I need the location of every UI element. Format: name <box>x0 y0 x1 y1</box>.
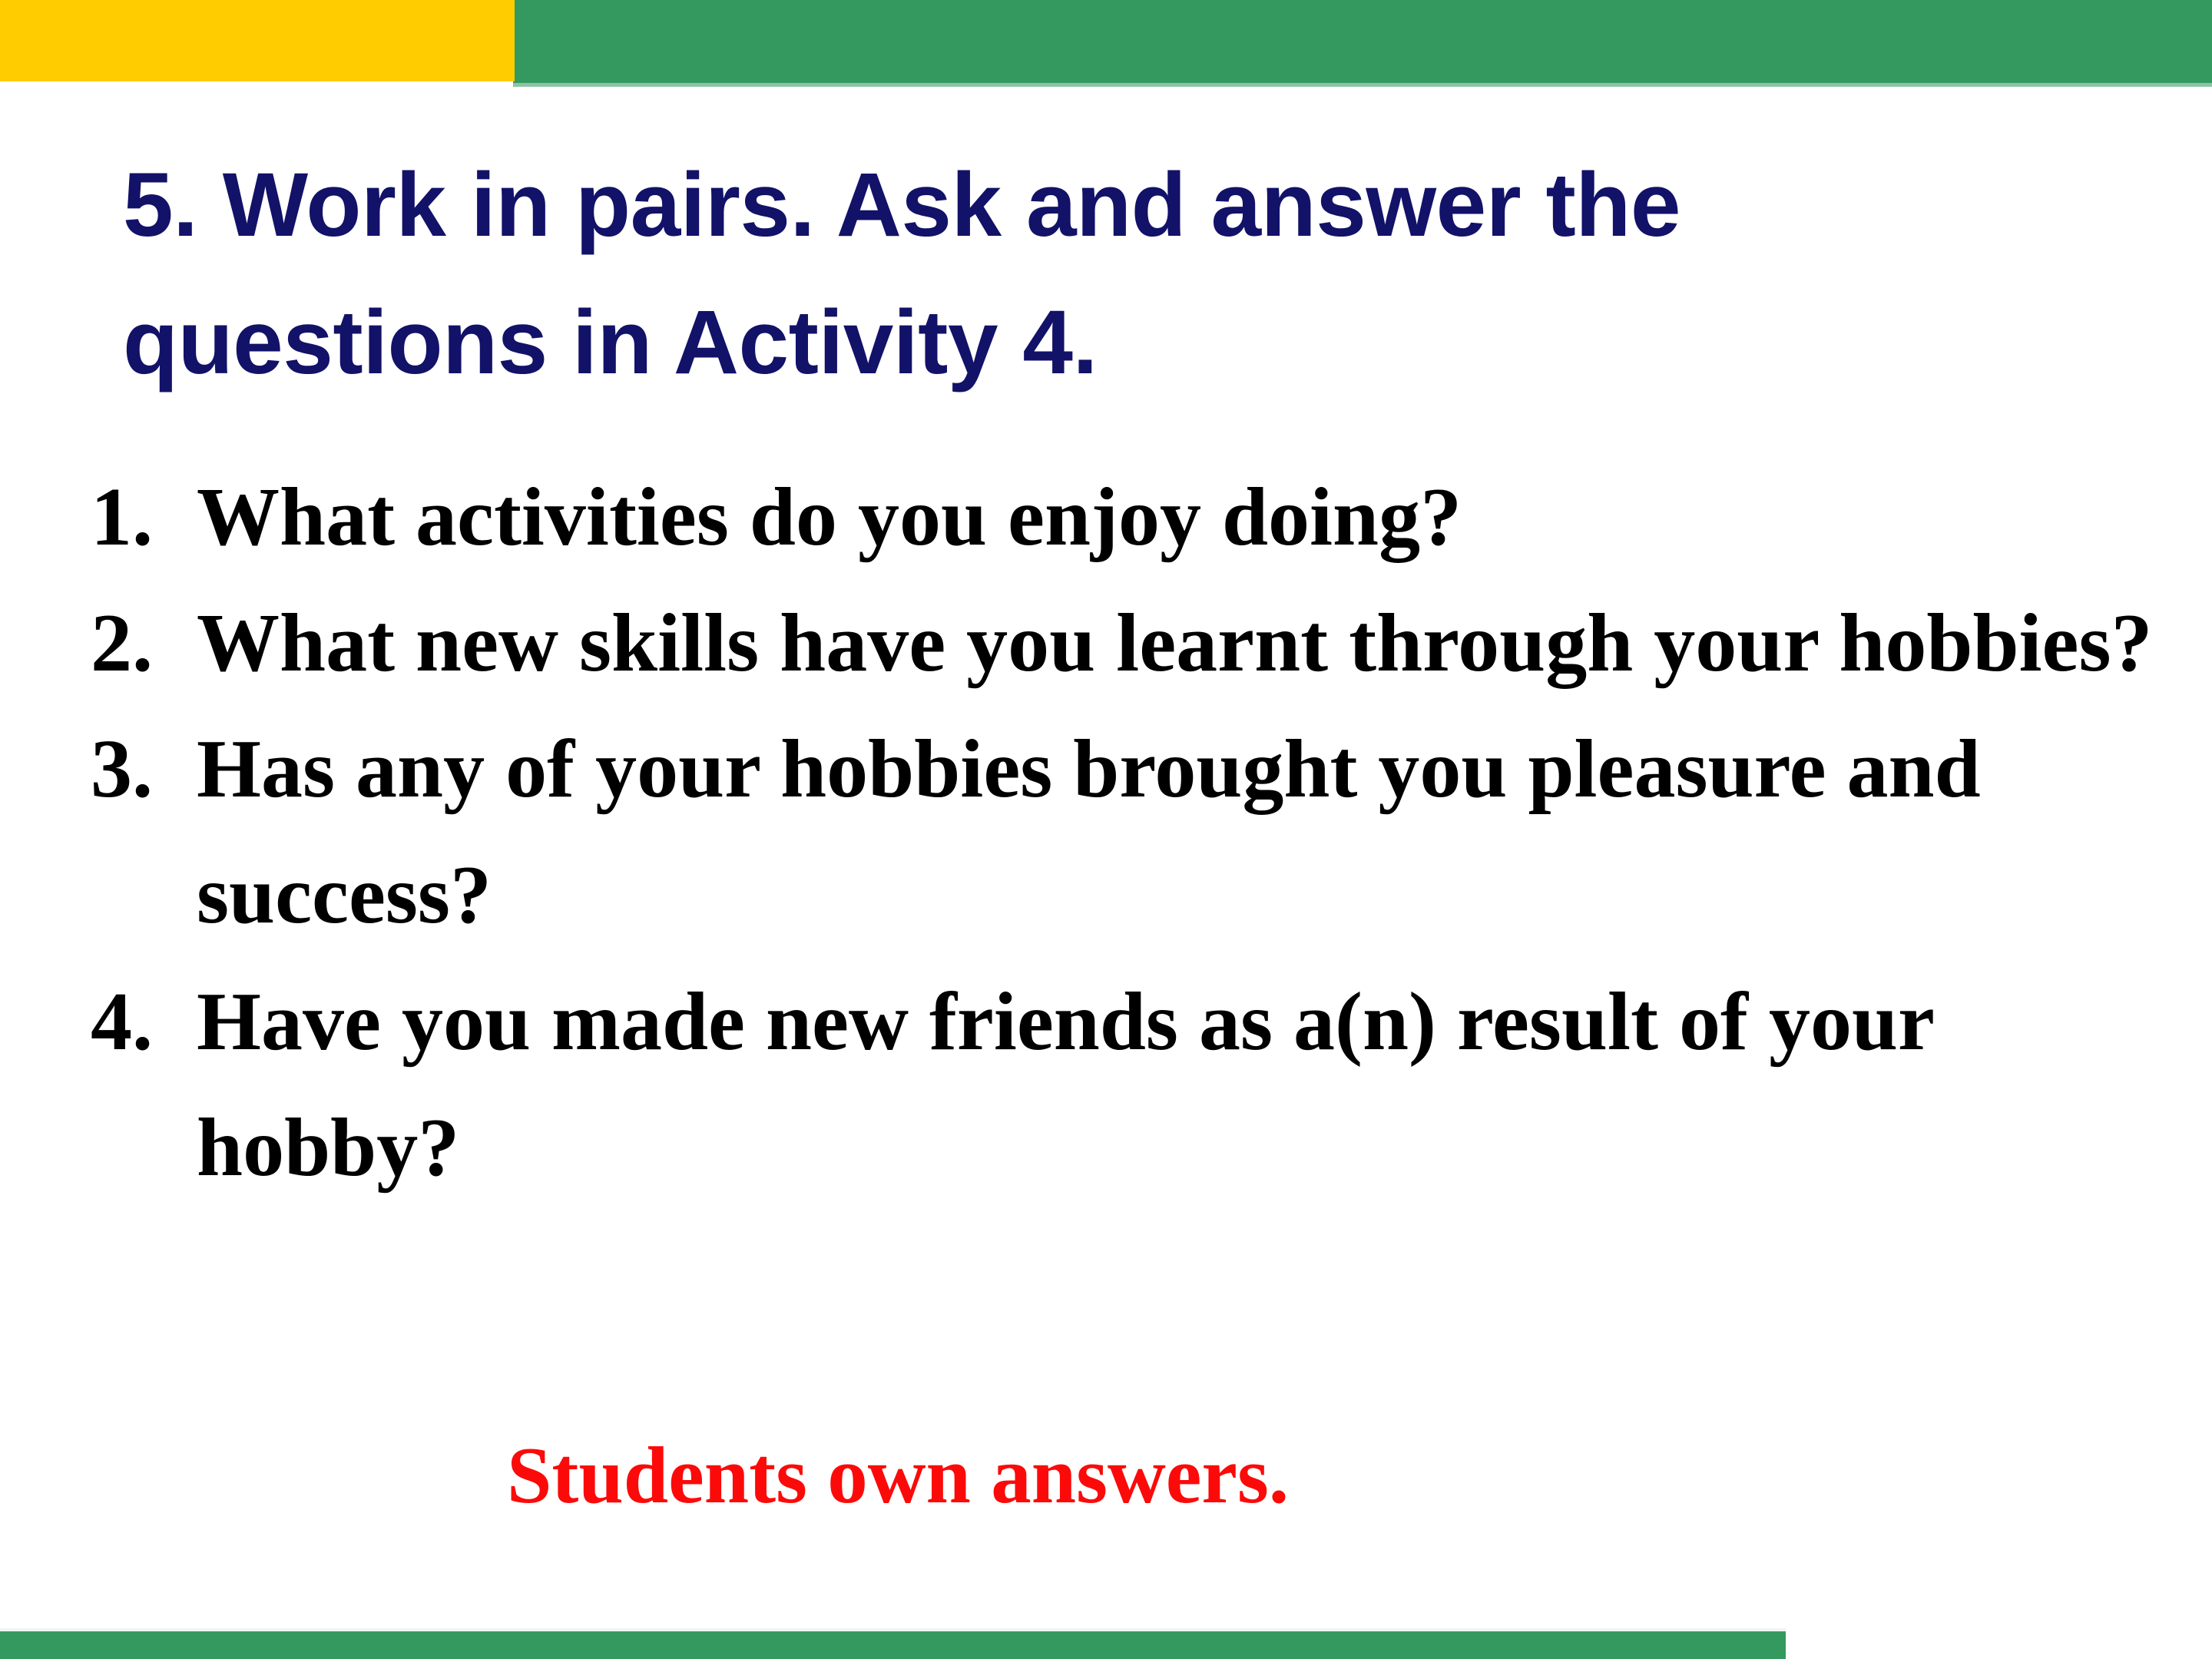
list-item-text: What activities do you enjoy doing? <box>197 455 2164 581</box>
list-item-marker: 4. <box>91 959 197 1085</box>
top-bar-green-shadow <box>513 83 2212 87</box>
top-bar-yellow-band <box>0 0 515 81</box>
list-item-marker: 3. <box>91 707 197 833</box>
bottom-decoration-bar <box>0 1631 1786 1659</box>
slide-title: 5. Work in pairs. Ask and answer the que… <box>123 137 1982 412</box>
top-decoration-bar <box>0 0 2212 86</box>
list-item: 1. What activities do you enjoy doing? <box>91 455 2164 581</box>
list-item-marker: 1. <box>91 455 197 581</box>
list-item: 2. What new skills have you learnt throu… <box>91 581 2164 707</box>
list-item: 4. Have you made new friends as a(n) res… <box>91 959 2164 1211</box>
answer-note: Students own answers. <box>507 1427 1289 1524</box>
question-list: 1. What activities do you enjoy doing? 2… <box>91 455 2164 1211</box>
list-item-text: Has any of your hobbies brought you plea… <box>197 707 2164 959</box>
list-item: 3. Has any of your hobbies brought you p… <box>91 707 2164 959</box>
list-item-marker: 2. <box>91 581 197 707</box>
list-item-text: Have you made new friends as a(n) result… <box>197 959 2164 1211</box>
list-item-text: What new skills have you learnt through … <box>197 581 2164 707</box>
top-bar-green-band <box>513 0 2212 84</box>
